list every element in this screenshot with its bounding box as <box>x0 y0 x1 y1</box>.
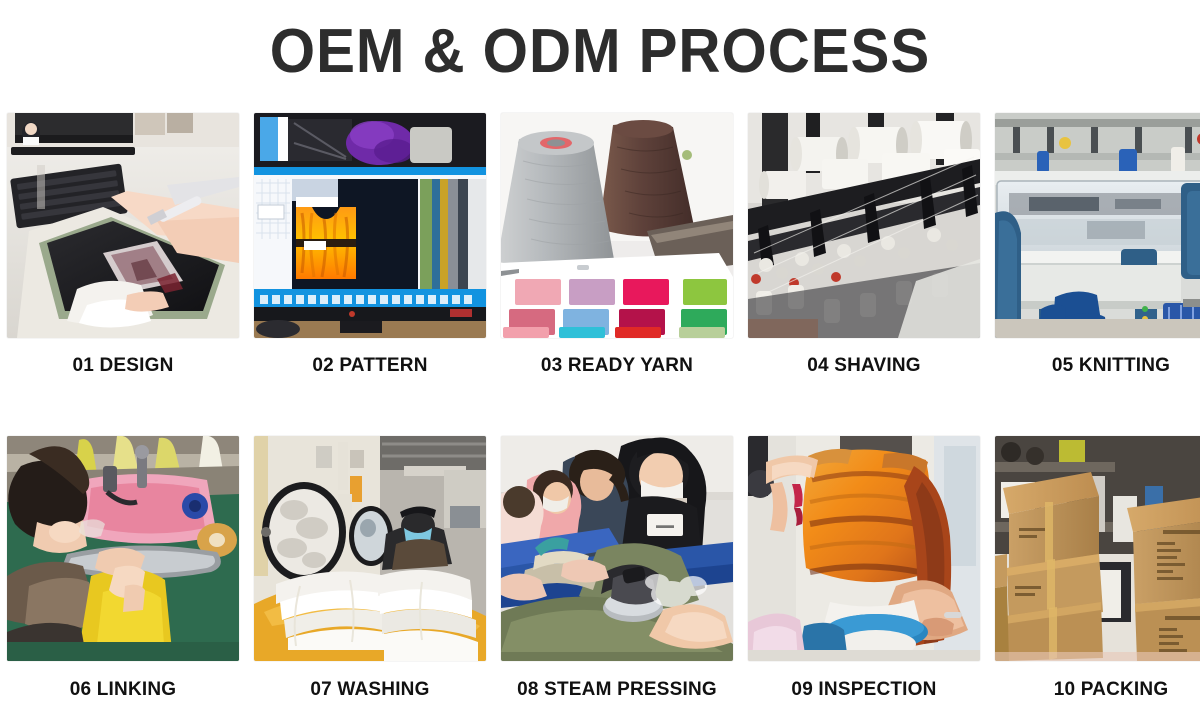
process-step-ready-yarn[interactable]: 03 READY YARN <box>501 113 733 377</box>
step-label: 01 DESIGN <box>7 355 239 377</box>
packing-photo <box>995 436 1200 661</box>
process-step-design[interactable]: 01 DESIGN <box>7 113 239 377</box>
process-step-pattern[interactable]: 02 PATTERN <box>254 113 486 377</box>
shaving-illustration <box>748 113 980 338</box>
step-label: 06 LINKING <box>7 679 239 701</box>
step-label: 10 PACKING <box>995 679 1200 701</box>
process-grid: 01 DESIGN <box>7 113 1193 701</box>
process-step-knitting[interactable]: 05 KNITTING <box>995 113 1200 377</box>
shaving-photo <box>748 113 980 338</box>
design-photo <box>7 113 239 338</box>
step-label: 02 PATTERN <box>254 355 486 377</box>
linking-photo <box>7 436 239 661</box>
svg-text:▬▬: ▬▬ <box>656 520 674 530</box>
step-label: 09 INSPECTION <box>748 679 980 701</box>
inspection-photo <box>748 436 980 661</box>
process-step-washing[interactable]: 07 WASHING <box>254 436 486 701</box>
steam-pressing-photo: ▬▬ <box>501 436 733 661</box>
knitting-illustration <box>995 113 1200 338</box>
step-label: 04 SHAVING <box>748 355 980 377</box>
process-row-top: 01 DESIGN <box>7 113 1193 377</box>
process-step-shaving[interactable]: 04 SHAVING <box>748 113 980 377</box>
process-infographic: OEM & ODM PROCESS <box>0 0 1200 678</box>
linking-illustration <box>7 436 239 661</box>
process-step-packing[interactable]: 10 PACKING <box>995 436 1200 701</box>
step-label: 07 WASHING <box>254 679 486 701</box>
process-step-linking[interactable]: 06 LINKING <box>7 436 239 701</box>
washing-photo <box>254 436 486 661</box>
ready-yarn-photo <box>501 113 733 338</box>
ready-yarn-illustration <box>501 113 733 338</box>
inspection-illustration <box>748 436 980 661</box>
process-step-steam-pressing[interactable]: ▬▬ <box>501 436 733 701</box>
pattern-illustration <box>254 113 486 338</box>
steam-pressing-illustration: ▬▬ <box>501 436 733 661</box>
packing-illustration <box>995 436 1200 661</box>
design-illustration <box>7 113 239 338</box>
step-label: 05 KNITTING <box>995 355 1200 377</box>
process-step-inspection[interactable]: 09 INSPECTION <box>748 436 980 701</box>
process-row-bottom: 06 LINKING <box>7 436 1193 701</box>
washing-illustration <box>254 436 486 661</box>
step-label: 03 READY YARN <box>501 355 733 377</box>
step-label: 08 STEAM PRESSING <box>501 679 733 701</box>
page-title: OEM & ODM PROCESS <box>36 16 1164 87</box>
knitting-photo <box>995 113 1200 338</box>
pattern-photo <box>254 113 486 338</box>
